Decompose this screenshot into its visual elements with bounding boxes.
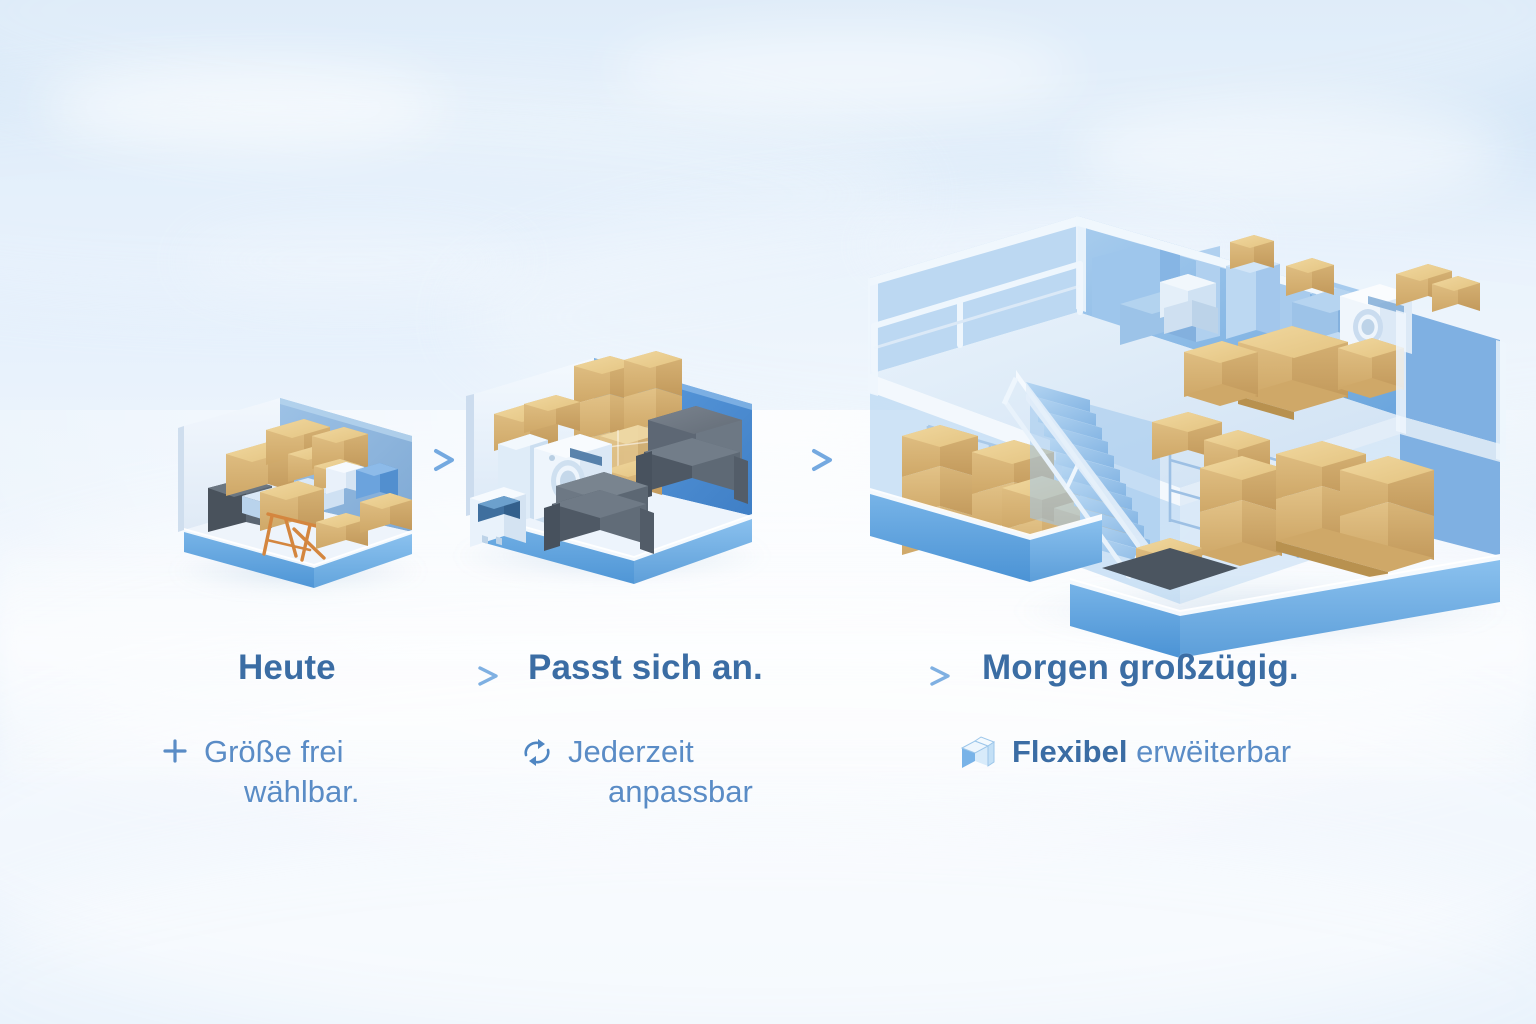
stage-feature-line1: Jederzeit [568, 734, 694, 769]
box-3d-icon [958, 736, 998, 780]
stage-feature-rest: erwëiterbar [1136, 734, 1291, 769]
storage-units-scene [0, 0, 1536, 1024]
caption-arrow-1 [370, 664, 510, 693]
caption-arrow-2 [772, 664, 962, 693]
stage-title-tomorrow: Morgen großzügig. [982, 648, 1299, 688]
stage-feature-line1: Größe frei [204, 734, 344, 769]
refresh-cycle-icon [520, 736, 554, 778]
large-warehouse-unit [840, 200, 1520, 630]
stage-title-today: Heute [238, 648, 336, 688]
stage-feature-tomorrow: Flexibel erwëiterbar [958, 732, 1291, 780]
stage-title-adapts: Passt sich an. [528, 648, 763, 688]
medium-storage-unit [452, 348, 772, 588]
captions-row: Heute [0, 622, 1536, 862]
stage-feature-adapts: Jederzeit anpassbar [520, 732, 753, 813]
stage-feature-today: Größe frei wählbar. [160, 732, 359, 813]
plus-icon [160, 736, 190, 776]
stage-feature-line2: wählbar. [204, 772, 359, 812]
stage-feature-line2: anpassbar [568, 772, 753, 812]
stage-feature-strong: Flexibel [1012, 734, 1127, 769]
scene-arrow-2 [778, 446, 840, 479]
small-storage-unit [168, 392, 428, 592]
infographic-canvas: Heute [0, 0, 1536, 1024]
